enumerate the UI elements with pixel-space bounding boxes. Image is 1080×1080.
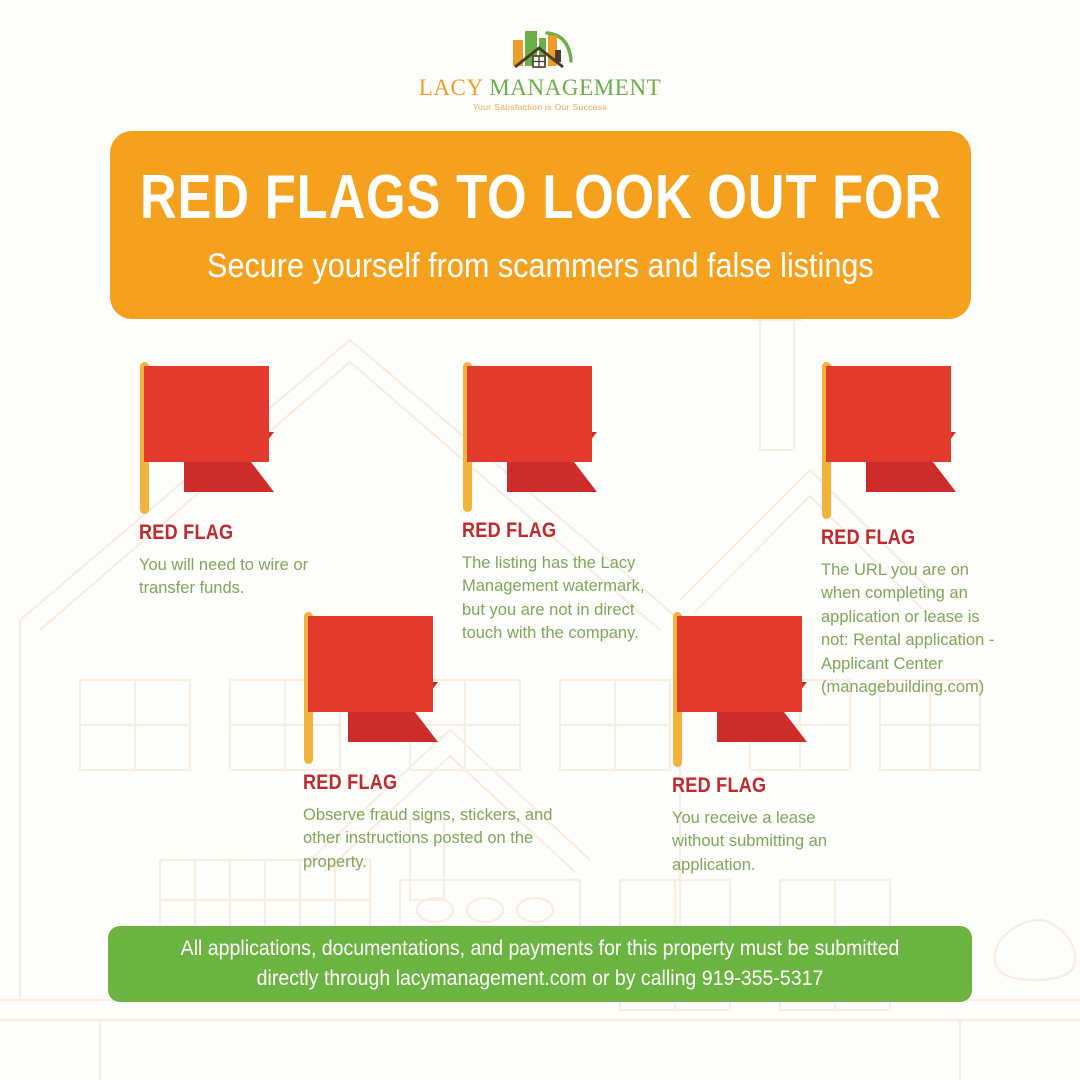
flag-body: Observe fraud signs, stickers, and other… [303,804,557,874]
red-flag-item-5: RED FLAG You receive a lease without sub… [672,612,872,877]
red-flag-item-2: RED FLAG The listing has the Lacy Manage… [462,362,672,646]
footer-banner: All applications, documentations, and pa… [108,926,972,1002]
logo-wordmark: LACY MANAGEMENT [0,75,1080,101]
flag-heading: RED FLAG [672,775,844,796]
flag-heading: RED FLAG [462,520,643,541]
page-title: RED FLAGS TO LOOK OUT FOR [140,167,942,229]
red-flag-icon [821,362,981,522]
flag-heading: RED FLAG [139,522,311,543]
red-flag-icon [139,362,299,517]
infographic-page: LACY MANAGEMENT Your Satisfaction is Our… [0,0,1080,1080]
logo-word-lacy: LACY [419,75,490,100]
flag-heading: RED FLAG [821,527,993,548]
header-banner: RED FLAGS TO LOOK OUT FOR Secure yoursel… [110,131,971,319]
house-building-logo-icon [497,26,583,74]
red-flag-icon [672,612,832,770]
red-flag-icon [303,612,463,767]
red-flag-icon [462,362,622,515]
flag-body: You receive a lease without submitting a… [672,807,852,877]
flag-heading: RED FLAG [303,772,527,793]
red-flag-item-1: RED FLAG You will need to wire or transf… [139,362,339,601]
logo-word-management: MANAGEMENT [489,75,661,100]
red-flag-item-4: RED FLAG Observe fraud signs, stickers, … [303,612,563,874]
page-subtitle: Secure yourself from scammers and false … [207,249,874,283]
footer-notice-text: All applications, documentations, and pa… [173,934,908,995]
logo-tagline: Your Satisfaction is Our Success [0,102,1080,112]
flag-body: You will need to wire or transfer funds. [139,554,314,601]
brand-logo: LACY MANAGEMENT Your Satisfaction is Our… [0,26,1080,112]
